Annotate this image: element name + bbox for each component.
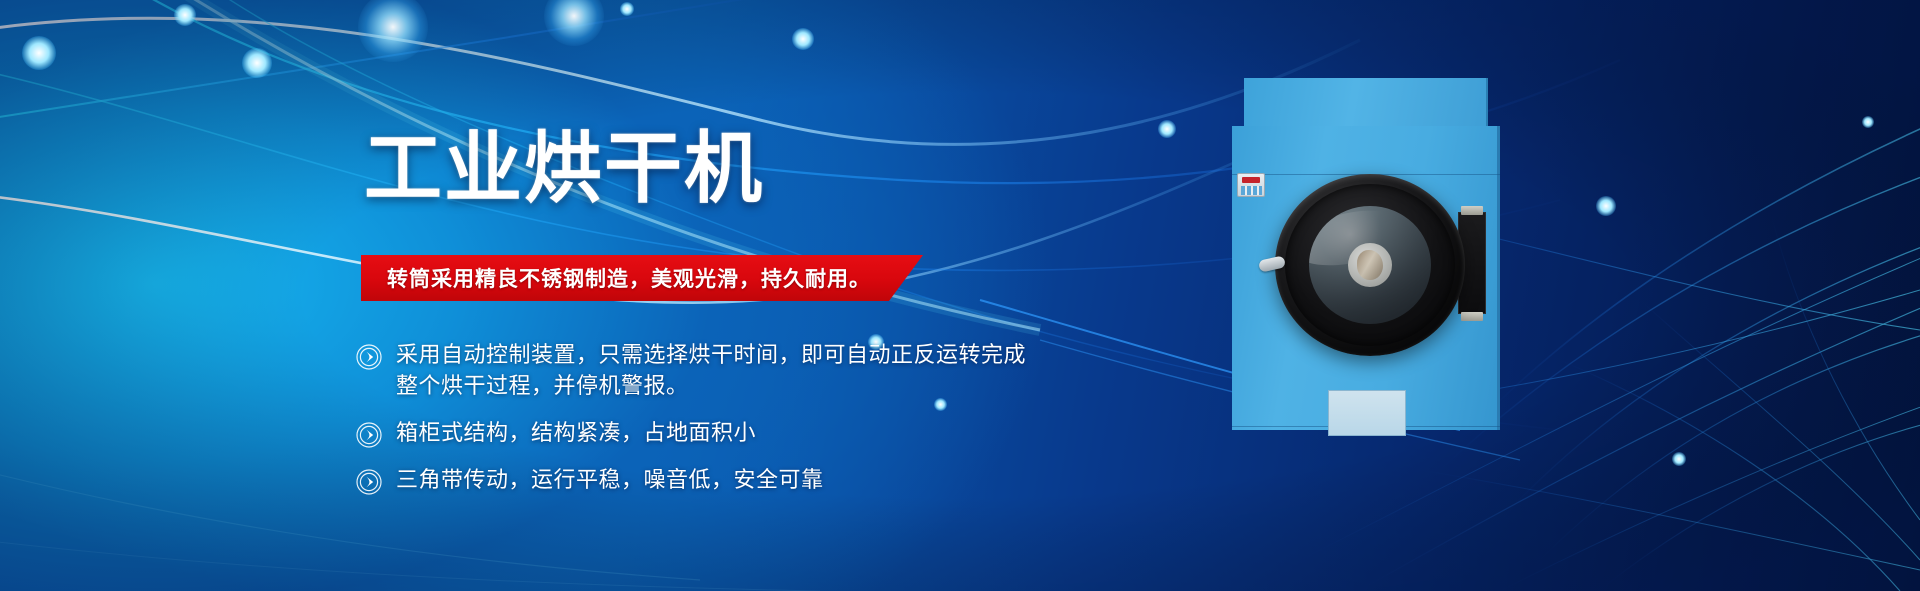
- feature-text: 采用自动控制装置，只需选择烘干时间，即可自动正反运转完成 整个烘干过程，并停机警…: [396, 340, 1026, 402]
- banner-content: 工业烘干机 转筒采用精良不锈钢制造，美观光滑，持久耐用。 采用自动控制装置，只需…: [0, 0, 1920, 591]
- list-item: 箱柜式结构，结构紧凑，占地面积小: [356, 418, 1026, 449]
- highlight-banner: 转筒采用精良不锈钢制造，美观光滑，持久耐用。: [361, 255, 923, 301]
- list-item: 三角带传动，运行平稳，噪音低，安全可靠: [356, 465, 1026, 496]
- feature-text: 三角带传动，运行平稳，噪音低，安全可靠: [396, 465, 824, 496]
- chevron-circle-icon: [356, 469, 382, 495]
- chevron-circle-icon: [356, 344, 382, 370]
- highlight-banner-text: 转筒采用精良不锈钢制造，美观光滑，持久耐用。: [387, 263, 871, 293]
- list-item: 采用自动控制装置，只需选择烘干时间，即可自动正反运转完成 整个烘干过程，并停机警…: [356, 340, 1026, 402]
- feature-text: 箱柜式结构，结构紧凑，占地面积小: [396, 418, 756, 449]
- promo-banner: 工业烘干机 转筒采用精良不锈钢制造，美观光滑，持久耐用。 采用自动控制装置，只需…: [0, 0, 1920, 591]
- page-title: 工业烘干机: [364, 130, 764, 208]
- feature-list: 采用自动控制装置，只需选择烘干时间，即可自动正反运转完成 整个烘干过程，并停机警…: [356, 340, 1026, 496]
- chevron-circle-icon: [356, 422, 382, 448]
